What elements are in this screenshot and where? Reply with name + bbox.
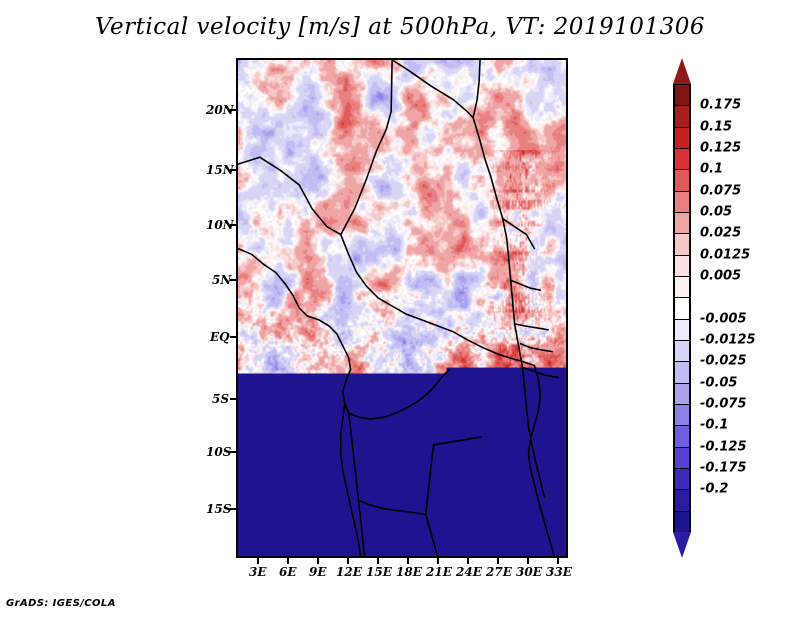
xtick-label-12e: 12E bbox=[336, 565, 362, 579]
xtick-mark-6e bbox=[287, 558, 289, 564]
ytick-mark-15s bbox=[230, 508, 236, 510]
ytick-mark-5s bbox=[230, 398, 236, 400]
xtick-label-21e: 21E bbox=[426, 565, 452, 579]
xtick-mark-12e bbox=[347, 558, 349, 564]
colorbar-segment bbox=[673, 425, 691, 447]
ytick-mark-5n bbox=[230, 279, 236, 281]
colorbar-segment bbox=[673, 148, 691, 170]
coastline-overlay bbox=[238, 60, 566, 556]
ytick-mark-eq bbox=[230, 336, 236, 338]
ytick-mark-10n bbox=[230, 224, 236, 226]
colorbar-bottom-arrow bbox=[673, 532, 691, 558]
ytick-label-10s: 10S bbox=[206, 445, 231, 459]
colorbar-segment bbox=[673, 319, 691, 341]
colorbar-segment bbox=[673, 105, 691, 127]
xtick-mark-33e bbox=[557, 558, 559, 564]
colorbar-segment bbox=[673, 447, 691, 469]
colorbar-tick-label: 0.1 bbox=[700, 162, 723, 177]
colorbar-segment bbox=[673, 511, 691, 533]
colorbar-tick-label: -0.075 bbox=[700, 397, 747, 412]
colorbar-tick-label: -0.125 bbox=[700, 439, 747, 454]
ytick-label-5s: 5S bbox=[212, 392, 229, 406]
colorbar-segment bbox=[673, 233, 691, 255]
ytick-label-5n: 5N bbox=[212, 273, 231, 287]
colorbar-tick-label: 0.15 bbox=[700, 119, 732, 134]
ytick-mark-15n bbox=[230, 169, 236, 171]
colorbar-segment bbox=[673, 489, 691, 511]
page-title: Vertical velocity [m/s] at 500hPa, VT: 2… bbox=[0, 14, 800, 40]
colorbar-segment bbox=[673, 340, 691, 362]
colorbar-segment bbox=[673, 361, 691, 383]
xtick-label-9e: 9E bbox=[309, 565, 327, 579]
colorbar-tick-label: -0.025 bbox=[700, 354, 747, 369]
xtick-label-24e: 24E bbox=[456, 565, 482, 579]
colorbar-tick-label: 0.05 bbox=[700, 205, 732, 220]
colorbar-segment bbox=[673, 84, 691, 106]
ytick-label-15s: 15S bbox=[206, 502, 231, 516]
xtick-mark-21e bbox=[437, 558, 439, 564]
attribution-footer: GrADS: IGES/COLA bbox=[6, 598, 116, 609]
colorbar-segment bbox=[673, 169, 691, 191]
colorbar-segment bbox=[673, 404, 691, 426]
colorbar-tick-label: -0.175 bbox=[700, 461, 747, 476]
xtick-mark-3e bbox=[257, 558, 259, 564]
colorbar-segment bbox=[673, 383, 691, 405]
colorbar-tick-label: -0.005 bbox=[700, 311, 747, 326]
colorbar-segment bbox=[673, 127, 691, 149]
colorbar-tick-label: -0.0125 bbox=[700, 333, 756, 348]
xtick-mark-27e bbox=[497, 558, 499, 564]
xtick-mark-30e bbox=[527, 558, 529, 564]
ytick-mark-10s bbox=[230, 451, 236, 453]
colorbar-segment bbox=[673, 212, 691, 234]
colorbar bbox=[673, 58, 691, 558]
xtick-label-33e: 33E bbox=[546, 565, 572, 579]
xtick-label-3e: 3E bbox=[249, 565, 267, 579]
colorbar-segment bbox=[673, 468, 691, 490]
colorbar-tick-label: -0.05 bbox=[700, 375, 737, 390]
xtick-mark-18e bbox=[407, 558, 409, 564]
xtick-mark-15e bbox=[377, 558, 379, 564]
colorbar-segment bbox=[673, 191, 691, 213]
colorbar-tick-label: -0.1 bbox=[700, 418, 728, 433]
colorbar-tick-label: -0.2 bbox=[700, 482, 728, 497]
xtick-label-30e: 30E bbox=[516, 565, 542, 579]
xtick-label-18e: 18E bbox=[396, 565, 422, 579]
xtick-label-6e: 6E bbox=[279, 565, 297, 579]
colorbar-segment bbox=[673, 276, 691, 298]
colorbar-tick-label: 0.0125 bbox=[700, 247, 750, 262]
xtick-label-15e: 15E bbox=[366, 565, 392, 579]
colorbar-tick-label: 0.025 bbox=[700, 226, 741, 241]
colorbar-segment bbox=[673, 255, 691, 277]
xtick-label-27e: 27E bbox=[486, 565, 512, 579]
colorbar-segment bbox=[673, 297, 691, 319]
xtick-mark-9e bbox=[317, 558, 319, 564]
map-plot-area bbox=[236, 58, 568, 558]
colorbar-tick-label: 0.175 bbox=[700, 98, 741, 113]
ytick-label-eq: EQ bbox=[210, 330, 230, 344]
colorbar-top-arrow bbox=[673, 58, 691, 84]
ytick-mark-20n bbox=[230, 109, 236, 111]
colorbar-tick-label: 0.005 bbox=[700, 269, 741, 284]
xtick-mark-24e bbox=[467, 558, 469, 564]
colorbar-tick-label: 0.125 bbox=[700, 141, 741, 156]
colorbar-tick-label: 0.075 bbox=[700, 183, 741, 198]
